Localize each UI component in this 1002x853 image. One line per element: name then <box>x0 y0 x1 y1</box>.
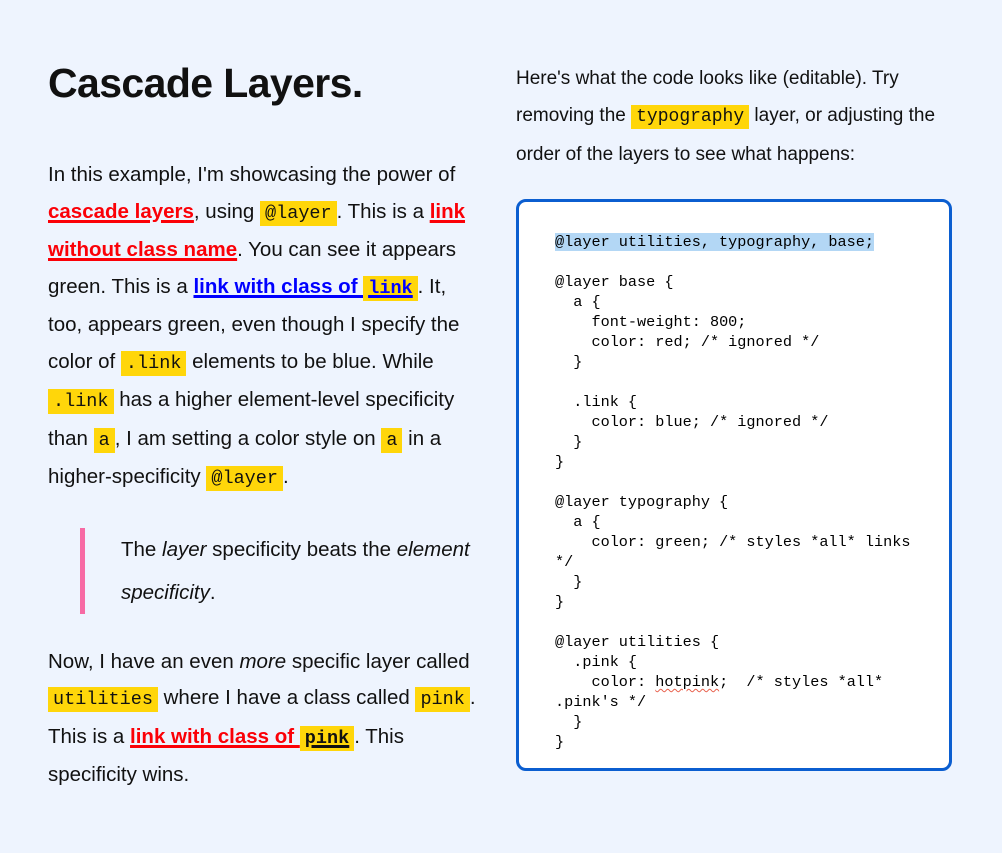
editor-intro-text: Here's what the code looks like (editabl… <box>516 60 954 173</box>
text-fragment: specificity beats the <box>206 538 396 561</box>
page-title: Cascade Layers. <box>48 60 480 107</box>
code-at-layer: @layer <box>260 201 337 226</box>
text-fragment: . This is a <box>337 200 430 223</box>
code-dot-link-second: .link <box>48 389 114 414</box>
text-fragment: . <box>283 465 289 488</box>
utilities-paragraph: Now, I have an even more specific layer … <box>48 644 480 794</box>
code-typography: typography <box>631 105 749 129</box>
code-selected-line[interactable]: @layer utilities, typography, base; <box>555 233 874 251</box>
code-pink-link: pink <box>300 726 354 751</box>
emphasis-layer: layer <box>162 538 206 561</box>
code-link: link <box>363 276 417 301</box>
code-utilities: utilities <box>48 687 158 712</box>
text-fragment: specific layer called <box>286 650 469 673</box>
text-fragment: elements to be blue. While <box>186 350 433 373</box>
intro-paragraph: In this example, I'm showcasing the powe… <box>48 157 480 498</box>
code-body[interactable]: @layer base { a { font-weight: 800; colo… <box>555 273 920 691</box>
left-column: Cascade Layers. In this example, I'm sho… <box>48 60 480 794</box>
emphasis-more: more <box>239 650 286 673</box>
link-cascade-layers[interactable]: cascade layers <box>48 200 194 223</box>
text-fragment: . <box>210 581 216 604</box>
code-at-layer-second: @layer <box>206 466 283 491</box>
text-fragment: In this example, I'm showcasing the powe… <box>48 163 455 186</box>
code-dot-link-first: .link <box>121 351 187 376</box>
code-misspelled-word[interactable]: hotpink <box>655 673 719 691</box>
right-column: Here's what the code looks like (editabl… <box>516 60 954 203</box>
code-a-second: a <box>381 428 402 453</box>
text-fragment: where I have a class called <box>158 686 416 709</box>
text-fragment: Now, I have an even <box>48 650 239 673</box>
pull-quote: The layer specificity beats the element … <box>80 528 480 614</box>
link-label: link with class of <box>193 275 363 298</box>
link-with-class-of-link[interactable]: link with class of link <box>193 275 417 298</box>
code-editor-panel[interactable]: @layer utilities, typography, base; @lay… <box>516 199 952 771</box>
text-fragment: , I am setting a color style on <box>115 427 382 450</box>
code-pink: pink <box>415 687 469 712</box>
code-a-first: a <box>94 428 115 453</box>
text-fragment: , using <box>194 200 260 223</box>
code-editor-textarea[interactable]: @layer utilities, typography, base; @lay… <box>519 202 949 770</box>
page-root: Cascade Layers. In this example, I'm sho… <box>0 0 1002 853</box>
link-label: link with class of <box>130 725 300 748</box>
link-with-class-of-pink[interactable]: link with class of pink <box>130 725 354 748</box>
text-fragment: The <box>121 538 162 561</box>
